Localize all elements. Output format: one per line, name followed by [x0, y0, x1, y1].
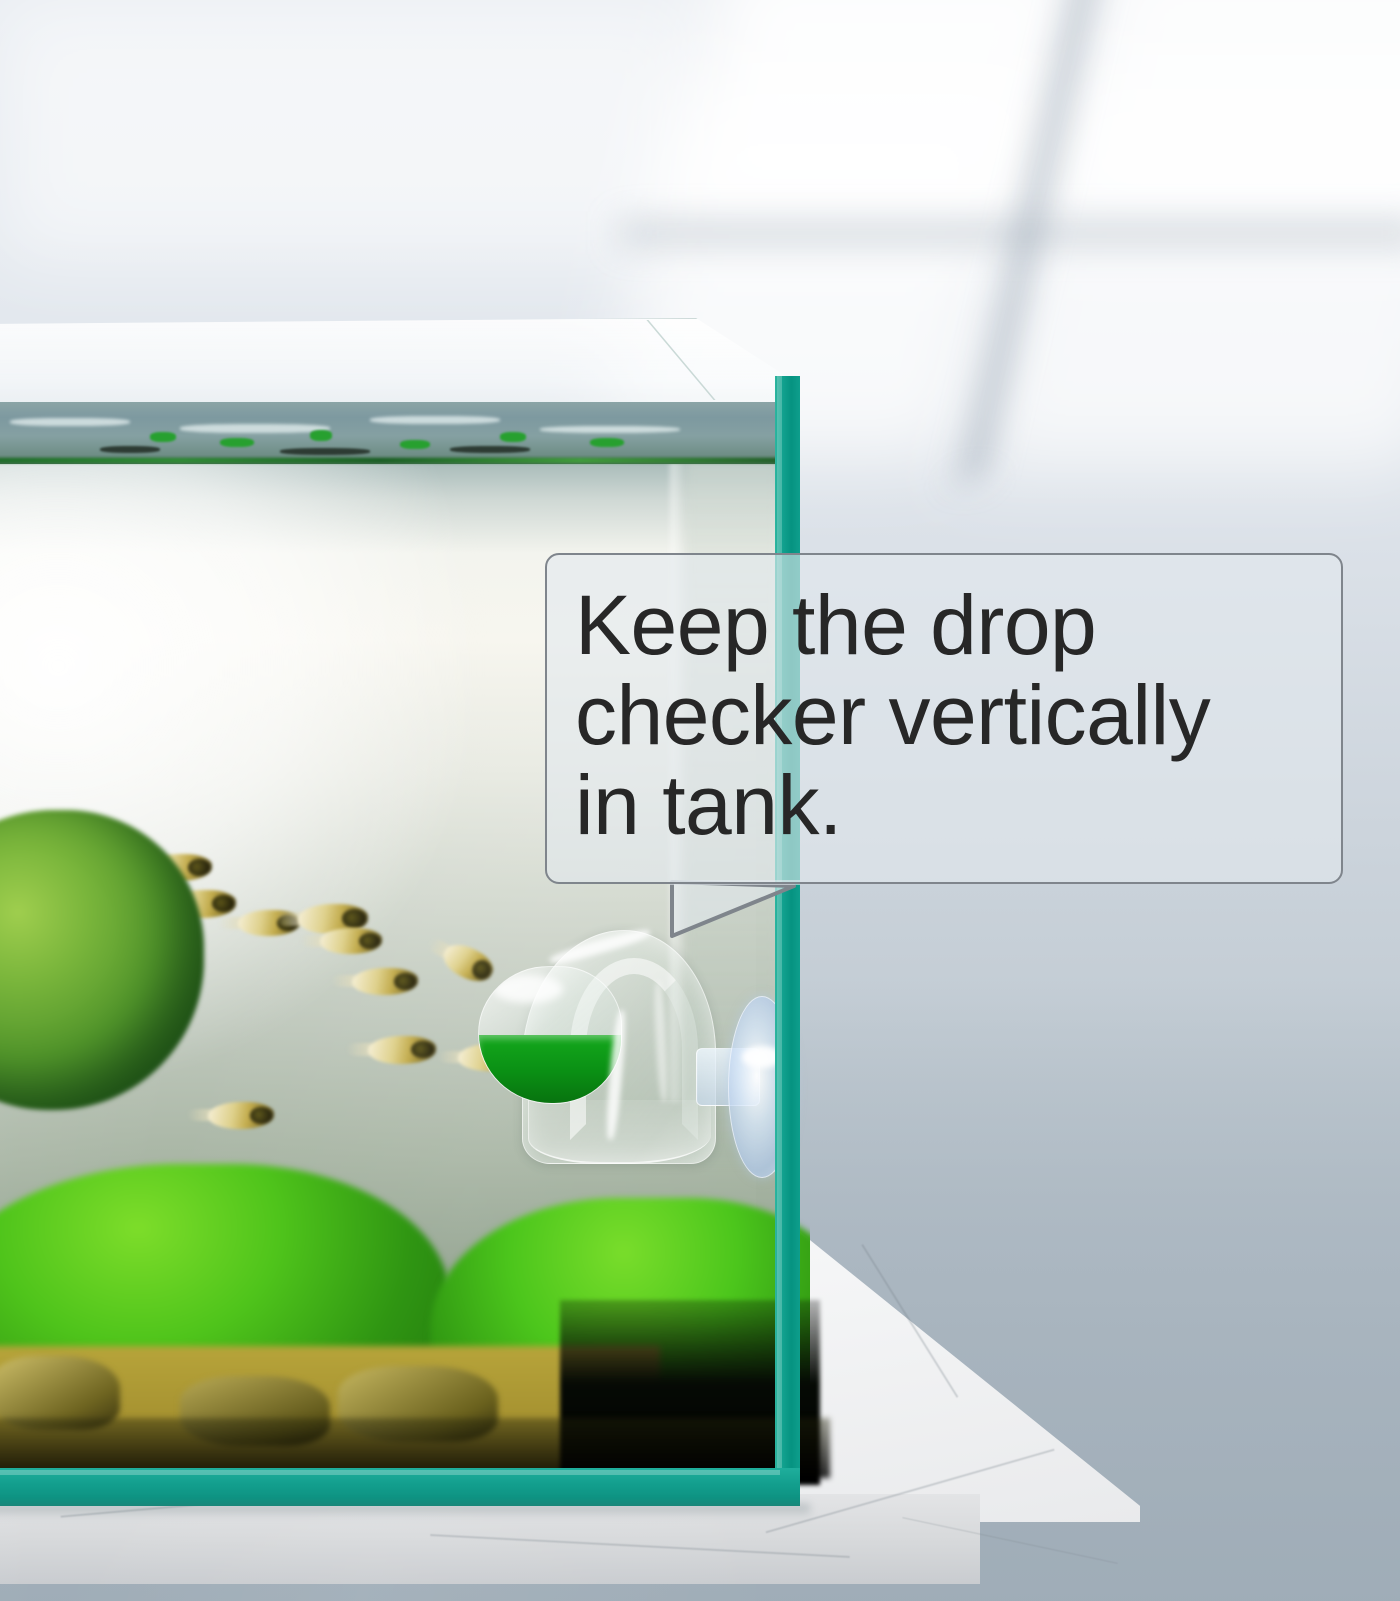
tank-front-glass-highlight	[777, 376, 782, 1506]
tank-bottom-glass-highlight	[0, 1470, 780, 1475]
drop-checker-bulb	[478, 966, 622, 1104]
callout-text: Keep the drop checker vertically in tank…	[575, 581, 1307, 851]
window-mullion-horizontal	[620, 222, 1400, 244]
drop-checker	[478, 918, 798, 1188]
water-surface-green-line	[0, 458, 780, 463]
water-surface	[0, 402, 780, 464]
fish	[320, 928, 382, 954]
fish	[352, 968, 418, 995]
fish	[368, 1036, 436, 1064]
tank-ground-shadow	[0, 1504, 810, 1518]
drop-checker-bulb-highlight	[493, 975, 563, 1003]
drop-checker-indicator-liquid	[479, 1035, 621, 1103]
scene-photo: Keep the drop checker vertically in tank…	[0, 0, 1400, 1601]
callout-bubble: Keep the drop checker vertically in tank…	[545, 553, 1343, 884]
fish	[208, 1102, 274, 1129]
